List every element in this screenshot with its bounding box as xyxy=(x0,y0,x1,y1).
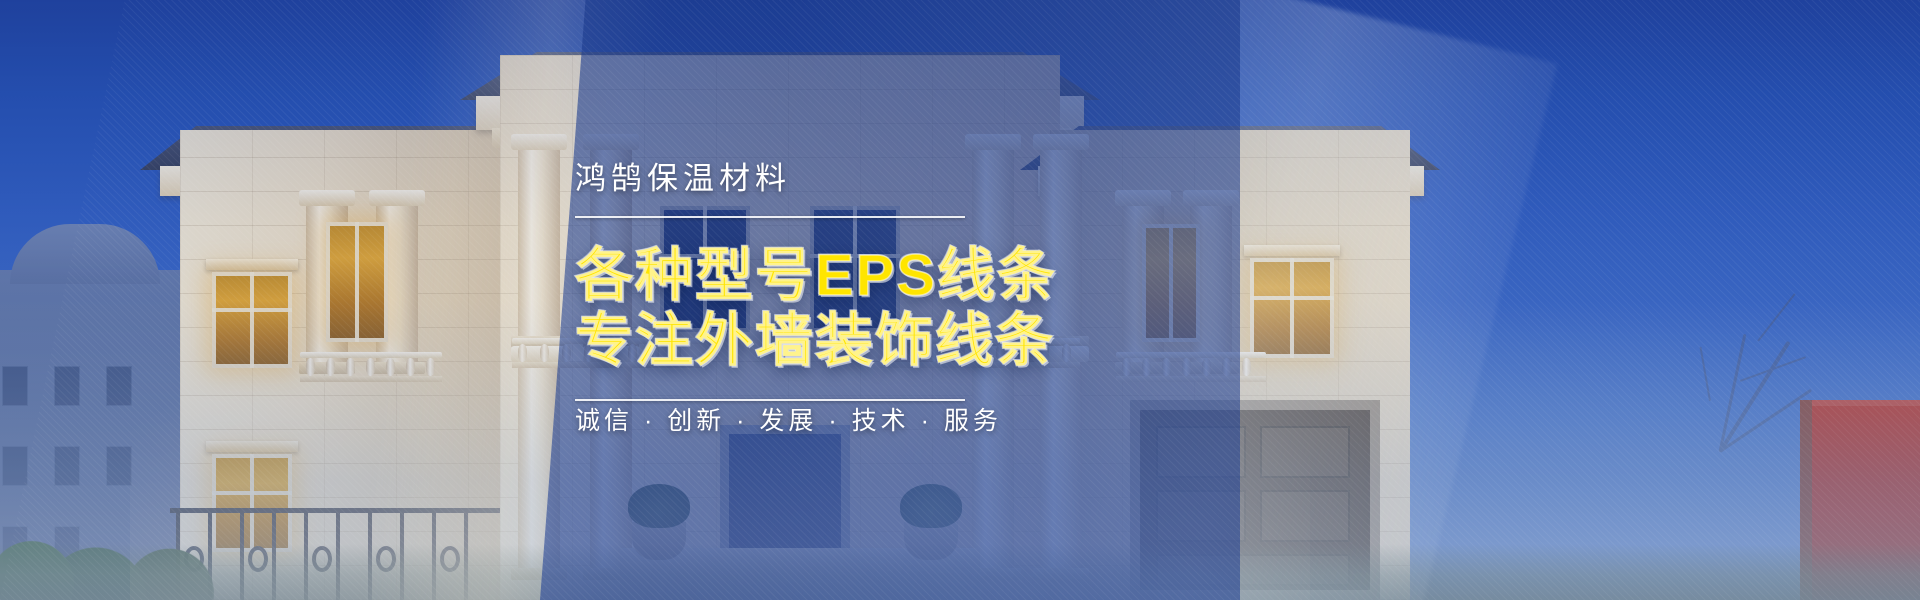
window-hood xyxy=(1244,245,1340,256)
headline-line-2: 专注外墙装饰线条 xyxy=(575,309,1215,374)
tagline: 诚信 · 创新 · 发展 · 技术 · 服务 xyxy=(575,401,1215,437)
brand-name: 鸿鹄保温材料 xyxy=(575,163,1215,194)
headline-line-1: 各种型号EPS线条 xyxy=(575,244,1215,309)
window-hood xyxy=(206,259,298,270)
headline-group: 各种型号EPS线条 专注外墙装饰线条 xyxy=(575,244,1215,374)
divider-top xyxy=(575,216,965,218)
banner-content: 鸿鹄保温材料 各种型号EPS线条 专注外墙装饰线条 诚信 · 创新 · 发展 ·… xyxy=(575,0,1215,600)
promo-banner: 鸿鹄保温材料 各种型号EPS线条 专注外墙装饰线条 诚信 · 创新 · 发展 ·… xyxy=(0,0,1920,600)
